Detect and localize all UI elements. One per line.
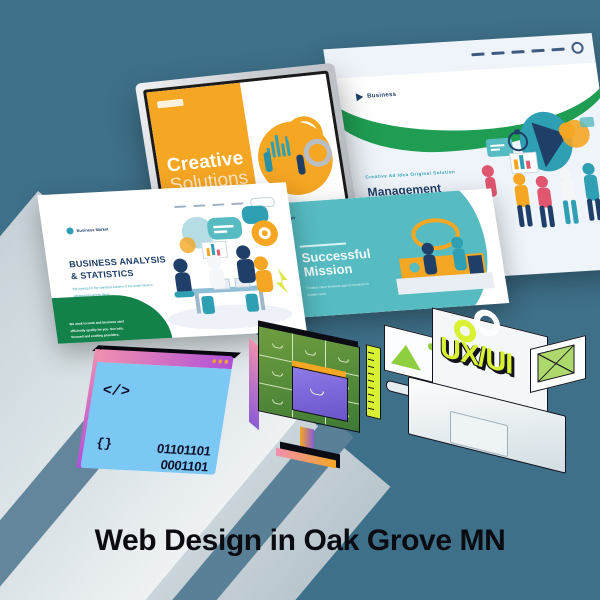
drawer-handle-icon[interactable]: [272, 343, 283, 349]
nav-circle-icon[interactable]: [571, 41, 585, 54]
card-logo[interactable]: Business Market: [66, 225, 109, 234]
mission-illustration: [384, 197, 504, 307]
window-body: </> {} 01101101 0001101: [80, 362, 231, 475]
company-logo: [157, 99, 184, 109]
code-editor-window[interactable]: </> {} 01101101 0001101: [80, 349, 233, 475]
card-heading-line1: BUSINESS ANALYSIS: [68, 254, 166, 269]
arrow-icon: [356, 93, 364, 101]
nav-dash[interactable]: [551, 47, 564, 51]
card-eyebrow: Creative Ad Idea Original Solution: [365, 169, 455, 179]
logo-text: Business Market: [76, 226, 109, 233]
card-heading-line2: Mission: [303, 262, 354, 279]
drawer-handle-icon[interactable]: [272, 399, 283, 405]
blob-text: We work to work and business start effic…: [69, 318, 134, 341]
ux-ui-laptop[interactable]: UX/UI: [392, 318, 582, 488]
ruler-icon: [366, 344, 381, 420]
card-heading-line2: & STATISTICS: [70, 268, 134, 281]
binary-line-2: 0001101: [160, 457, 210, 474]
drawer-handle-icon[interactable]: [338, 357, 349, 363]
business-analysis-statistics-card[interactable]: Business Market BUSINESS ANALYSIS & STAT…: [37, 182, 306, 344]
page-title: Web Design in Oak Grove MN: [0, 524, 600, 558]
window-control-dots[interactable]: [212, 359, 228, 363]
drawer-handle-icon[interactable]: [272, 371, 283, 377]
code-tag-icon: </>: [101, 382, 131, 400]
nav-dash[interactable]: [491, 51, 504, 55]
logo-mark-icon: [66, 227, 74, 234]
nav-dash[interactable]: [511, 50, 524, 54]
logo-text: Business: [367, 92, 397, 100]
code-brace-icon: {}: [95, 436, 113, 452]
meeting-illustration: [148, 198, 304, 334]
binary-line-1: 01101101: [156, 441, 212, 459]
card-nav[interactable]: [471, 41, 585, 60]
nav-dash[interactable]: [531, 48, 544, 52]
nav-dash[interactable]: [471, 52, 484, 56]
drawer-handle-icon[interactable]: [305, 350, 316, 356]
green-filing-cabinet[interactable]: [258, 336, 382, 476]
poster-canvas: Business Creative Ad Idea Original Solut…: [0, 0, 600, 600]
